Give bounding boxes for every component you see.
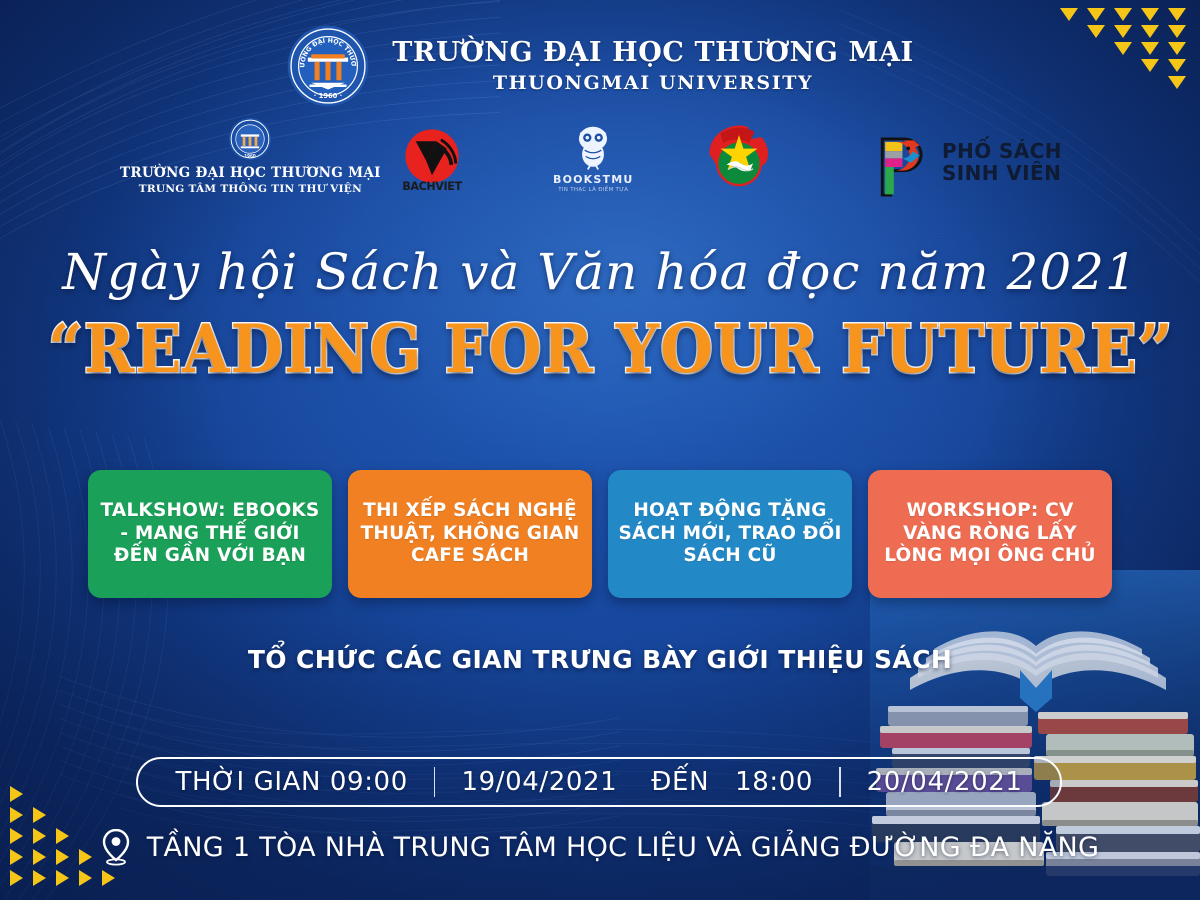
university-header: TRƯỜNG ĐẠI HỌC THƯƠNG · 1960 · TRƯỜNG ĐẠ… [0, 24, 1200, 108]
owl-logo-icon [567, 120, 619, 172]
sponsor-library: 1960 TRƯỜNG ĐẠI HỌC THƯƠNG MẠI TRUNG TÂM… [120, 116, 381, 195]
activity-box-row: TALKSHOW: EBOOKS - MANG THẾ GIỚI ĐẾN GẦN… [88, 470, 1112, 598]
event-poster: TRƯỜNG ĐẠI HỌC THƯƠNG · 1960 · TRƯỜNG ĐẠ… [0, 0, 1200, 900]
university-name-en: THUONGMAI UNIVERSITY [493, 73, 813, 94]
sponsor-doan-thanh-nien [700, 118, 778, 196]
activity-label: HOẠT ĐỘNG TẶNG SÁCH MỚI, TRAO ĐỔI SÁCH C… [618, 500, 842, 569]
event-subline: TỔ CHỨC CÁC GIAN TRƯNG BÀY GIỚI THIỆU SÁ… [0, 645, 1200, 674]
library-name-line1: TRƯỜNG ĐẠI HỌC THƯƠNG MẠI [120, 165, 381, 181]
schedule-end-date: 20/04/2021 [867, 767, 1023, 797]
library-seal-icon: 1960 [227, 116, 273, 162]
schedule-time-label: THỜI GIAN 09:00 [175, 767, 407, 797]
schedule-start-date: 19/04/2021 [461, 767, 617, 797]
university-names: TRƯỜNG ĐẠI HỌC THƯƠNG MẠI THUONGMAI UNIV… [392, 38, 914, 95]
svg-text:· 1960 ·: · 1960 · [314, 92, 342, 100]
svg-text:1960: 1960 [245, 153, 257, 158]
activity-label: WORKSHOP: CV VÀNG RÒNG LẤY LÒNG MỌI ÔNG … [878, 500, 1102, 569]
event-script-title: Ngày hội Sách và Văn hóa đọc năm 2021 [0, 243, 1200, 301]
activity-box-book-art[interactable]: THI XẾP SÁCH NGHỆ THUẬT, KHÔNG GIAN CAFE… [348, 470, 592, 598]
activity-box-book-exchange[interactable]: HOẠT ĐỘNG TẶNG SÁCH MỚI, TRAO ĐỔI SÁCH C… [608, 470, 852, 598]
activity-box-cv-workshop[interactable]: WORKSHOP: CV VÀNG RÒNG LẤY LÒNG MỌI ÔNG … [868, 470, 1112, 598]
library-name-line2: TRUNG TÂM THÔNG TIN THƯ VIỆN [139, 183, 362, 195]
activity-label: THI XẾP SÁCH NGHỆ THUẬT, KHÔNG GIAN CAFE… [358, 500, 582, 569]
schedule-end-time: 18:00 [735, 767, 813, 797]
event-headline: “READING FOR YOUR FUTURE” [48, 310, 1152, 388]
activity-label: TALKSHOW: EBOOKS - MANG THẾ GIỚI ĐẾN GẦN… [98, 500, 322, 569]
activity-box-talkshow[interactable]: TALKSHOW: EBOOKS - MANG THẾ GIỚI ĐẾN GẦN… [88, 470, 332, 598]
parrot-logo-icon [872, 126, 930, 198]
sponsor-logo-row: 1960 TRƯỜNG ĐẠI HỌC THƯƠNG MẠI TRUNG TÂM… [0, 118, 1200, 204]
location-row: TẦNG 1 TÒA NHÀ TRUNG TÂM HỌC LIỆU VÀ GIẢ… [0, 828, 1200, 866]
doan-thanh-nien-emblem-icon [700, 118, 778, 196]
svg-text:BACHVIET: BACHVIET [402, 180, 462, 193]
schedule-pill: THỜI GIAN 09:00 19/04/2021 ĐẾN 18:00 20/… [136, 757, 1062, 807]
sponsor-bookstmu: BOOKSTMU TIN THẠC LÀ ĐIỂM TỰA [553, 120, 634, 193]
bookstmu-tagline: TIN THẠC LÀ ĐIỂM TỰA [558, 187, 628, 193]
schedule-connector: ĐẾN [651, 767, 709, 797]
schedule-divider [434, 767, 436, 797]
pho-sach-line2: SINH VIÊN [942, 162, 1062, 184]
location-pin-icon [101, 828, 131, 866]
bachviet-logo-icon: BACHVIET [395, 122, 469, 196]
pho-sach-text: PHỐ SÁCH SINH VIÊN [942, 140, 1062, 185]
schedule-divider [839, 767, 841, 797]
sponsor-pho-sach-sinh-vien: PHỐ SÁCH SINH VIÊN [872, 126, 1062, 198]
sponsor-bachviet: BACHVIET [395, 122, 469, 196]
university-name-vn: TRƯỜNG ĐẠI HỌC THƯƠNG MẠI [392, 38, 914, 68]
thuongmai-university-seal-icon: TRƯỜNG ĐẠI HỌC THƯƠNG · 1960 · [286, 24, 370, 108]
pho-sach-line1: PHỐ SÁCH [942, 140, 1062, 162]
bookstmu-name: BOOKSTMU [553, 173, 634, 186]
location-text: TẦNG 1 TÒA NHÀ TRUNG TÂM HỌC LIỆU VÀ GIẢ… [147, 832, 1100, 863]
